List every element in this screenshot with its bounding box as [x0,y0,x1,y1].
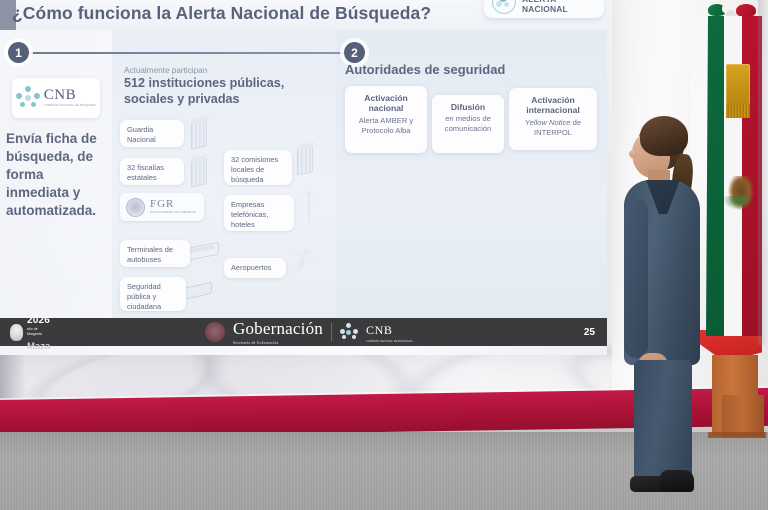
cnb-emblem-icon [16,86,40,110]
authority-card-activacion-nacional: Activación nacional Alerta AMBER y Proto… [345,86,427,153]
flag-gold-tassel [726,64,750,106]
ministry-subtitle: Secretaría de Gobernación [233,341,323,345]
authority-card-detail-italic: Yellow Notice [525,118,571,127]
authority-card-detail: Yellow Notice de INTERPOL [514,118,592,137]
footer-divider [331,323,332,341]
footer-year-caption: año de [27,328,50,331]
alerta-nacional-badge: ALERTA NACIONAL [484,0,604,18]
building-icon [191,120,207,149]
step-badge-2: 2 [344,42,365,63]
person-arm [624,198,648,358]
footer-year: 2026 [27,315,50,326]
institution-pill-fiscalias: 32 fiscalías estatales [120,158,184,185]
fgr-wordmark: FGR [150,199,196,210]
alerta-line-2: NACIONAL [522,5,568,14]
authority-card-difusion: Difusión en medios de comunicación [432,95,504,153]
authority-card-detail: Alerta AMBER y Protocolo Alba [350,116,422,135]
person-profile-nose [629,150,637,158]
ministry-block: Gobernación Secretaría de Gobernación [233,320,323,345]
slide-title: ¿Cómo funciona la Alerta Nacional de Bús… [12,3,431,24]
alerta-nacional-label: ALERTA NACIONAL [522,0,568,14]
slide-page-number: 25 [584,327,595,338]
flag-green-band [706,16,726,336]
speaker-standing [616,118,708,488]
institution-pill-fgr: FGR FISCALÍA GENERAL DE LA REPÚBLICA [120,193,204,221]
national-seal-icon [205,322,225,342]
mexican-flag [700,0,768,345]
right-column-headline: Autoridades de seguridad [345,62,505,77]
flag-cloth [706,16,762,336]
screenshot-root: ¿Cómo funciona la Alerta Nacional de Bús… [0,0,768,510]
person-shoe-right [660,470,694,492]
building-icon [191,158,207,187]
authority-card-activacion-internacional: Activación internacional Yellow Notice d… [509,88,597,150]
ministry-name: Gobernación [233,319,323,338]
margarita-maza-bust-icon [10,324,23,341]
podium-lower-panel [722,395,764,437]
institution-pill-comisiones-locales: 32 comisiones locales de búsqueda [224,150,292,185]
authority-card-title: Activación internacional [514,95,592,116]
building-icon [297,146,313,175]
footer-year-block: 2026 año de Margarita Maza [10,311,50,353]
alerta-nacional-icon [492,0,516,14]
podium-base [708,432,766,438]
step-badge-1: 1 [8,42,29,63]
institution-pill-terminales: Terminales de autobuses [120,240,190,267]
flag-coat-of-arms [728,176,754,210]
fgr-seal-icon [126,198,145,217]
fgr-subtitle: FISCALÍA GENERAL DE LA REPÚBLICA [150,211,196,215]
cnb-logo-subtitle: COMISIÓN NACIONAL DE BÚSQUEDA [44,104,96,108]
step-connector-line [29,52,346,54]
footer-year-caption-2: Margarita [27,333,50,336]
footer-year-text: 2026 año de Margarita Maza [27,311,50,353]
authority-card-detail: en medios de comunicación [437,114,499,133]
institution-pill-aeropuertos: Aeropuertos [224,258,286,278]
projected-slide: ¿Cómo funciona la Alerta Nacional de Bús… [0,0,607,355]
institution-pill-guardia-nacional: Guardia Nacional [120,120,184,147]
authority-card-title: Difusión [437,102,499,112]
cnb-logo-card: CNB COMISIÓN NACIONAL DE BÚSQUEDA [12,78,100,118]
authority-card-title: Activación nacional [350,93,422,114]
footer-honoree: Maza [27,341,50,352]
left-column-text: Envía ficha de búsqueda, de forma inmedi… [6,130,110,220]
antenna-icon [300,190,318,222]
middle-kicker: Actualmente participan [124,66,207,75]
footer-branding: Gobernación Secretaría de Gobernación CN… [205,320,413,345]
footer-cnb-block: CNB COMISIÓN NACIONAL DE BÚSQUEDA [366,321,413,344]
middle-headline: 512 instituciones públicas, sociales y p… [124,76,330,108]
footer-cnb-subtitle: COMISIÓN NACIONAL DE BÚSQUEDA [366,340,413,344]
institution-pill-seguridad-publica: Seguridad pública y ciudadana [120,277,186,311]
person-hair-top [640,116,688,156]
cnb-wordmark: CNB [44,88,96,103]
cnb-emblem-icon [340,323,358,341]
flag-pole-shadow [758,0,768,345]
slide-footer-bar: 2026 año de Margarita Maza Gobernación S… [0,318,607,346]
institution-pill-telefonicas: Empresas telefónicas, hoteles [224,195,294,231]
person-trousers [634,360,692,484]
footer-cnb-wordmark: CNB [366,323,392,337]
